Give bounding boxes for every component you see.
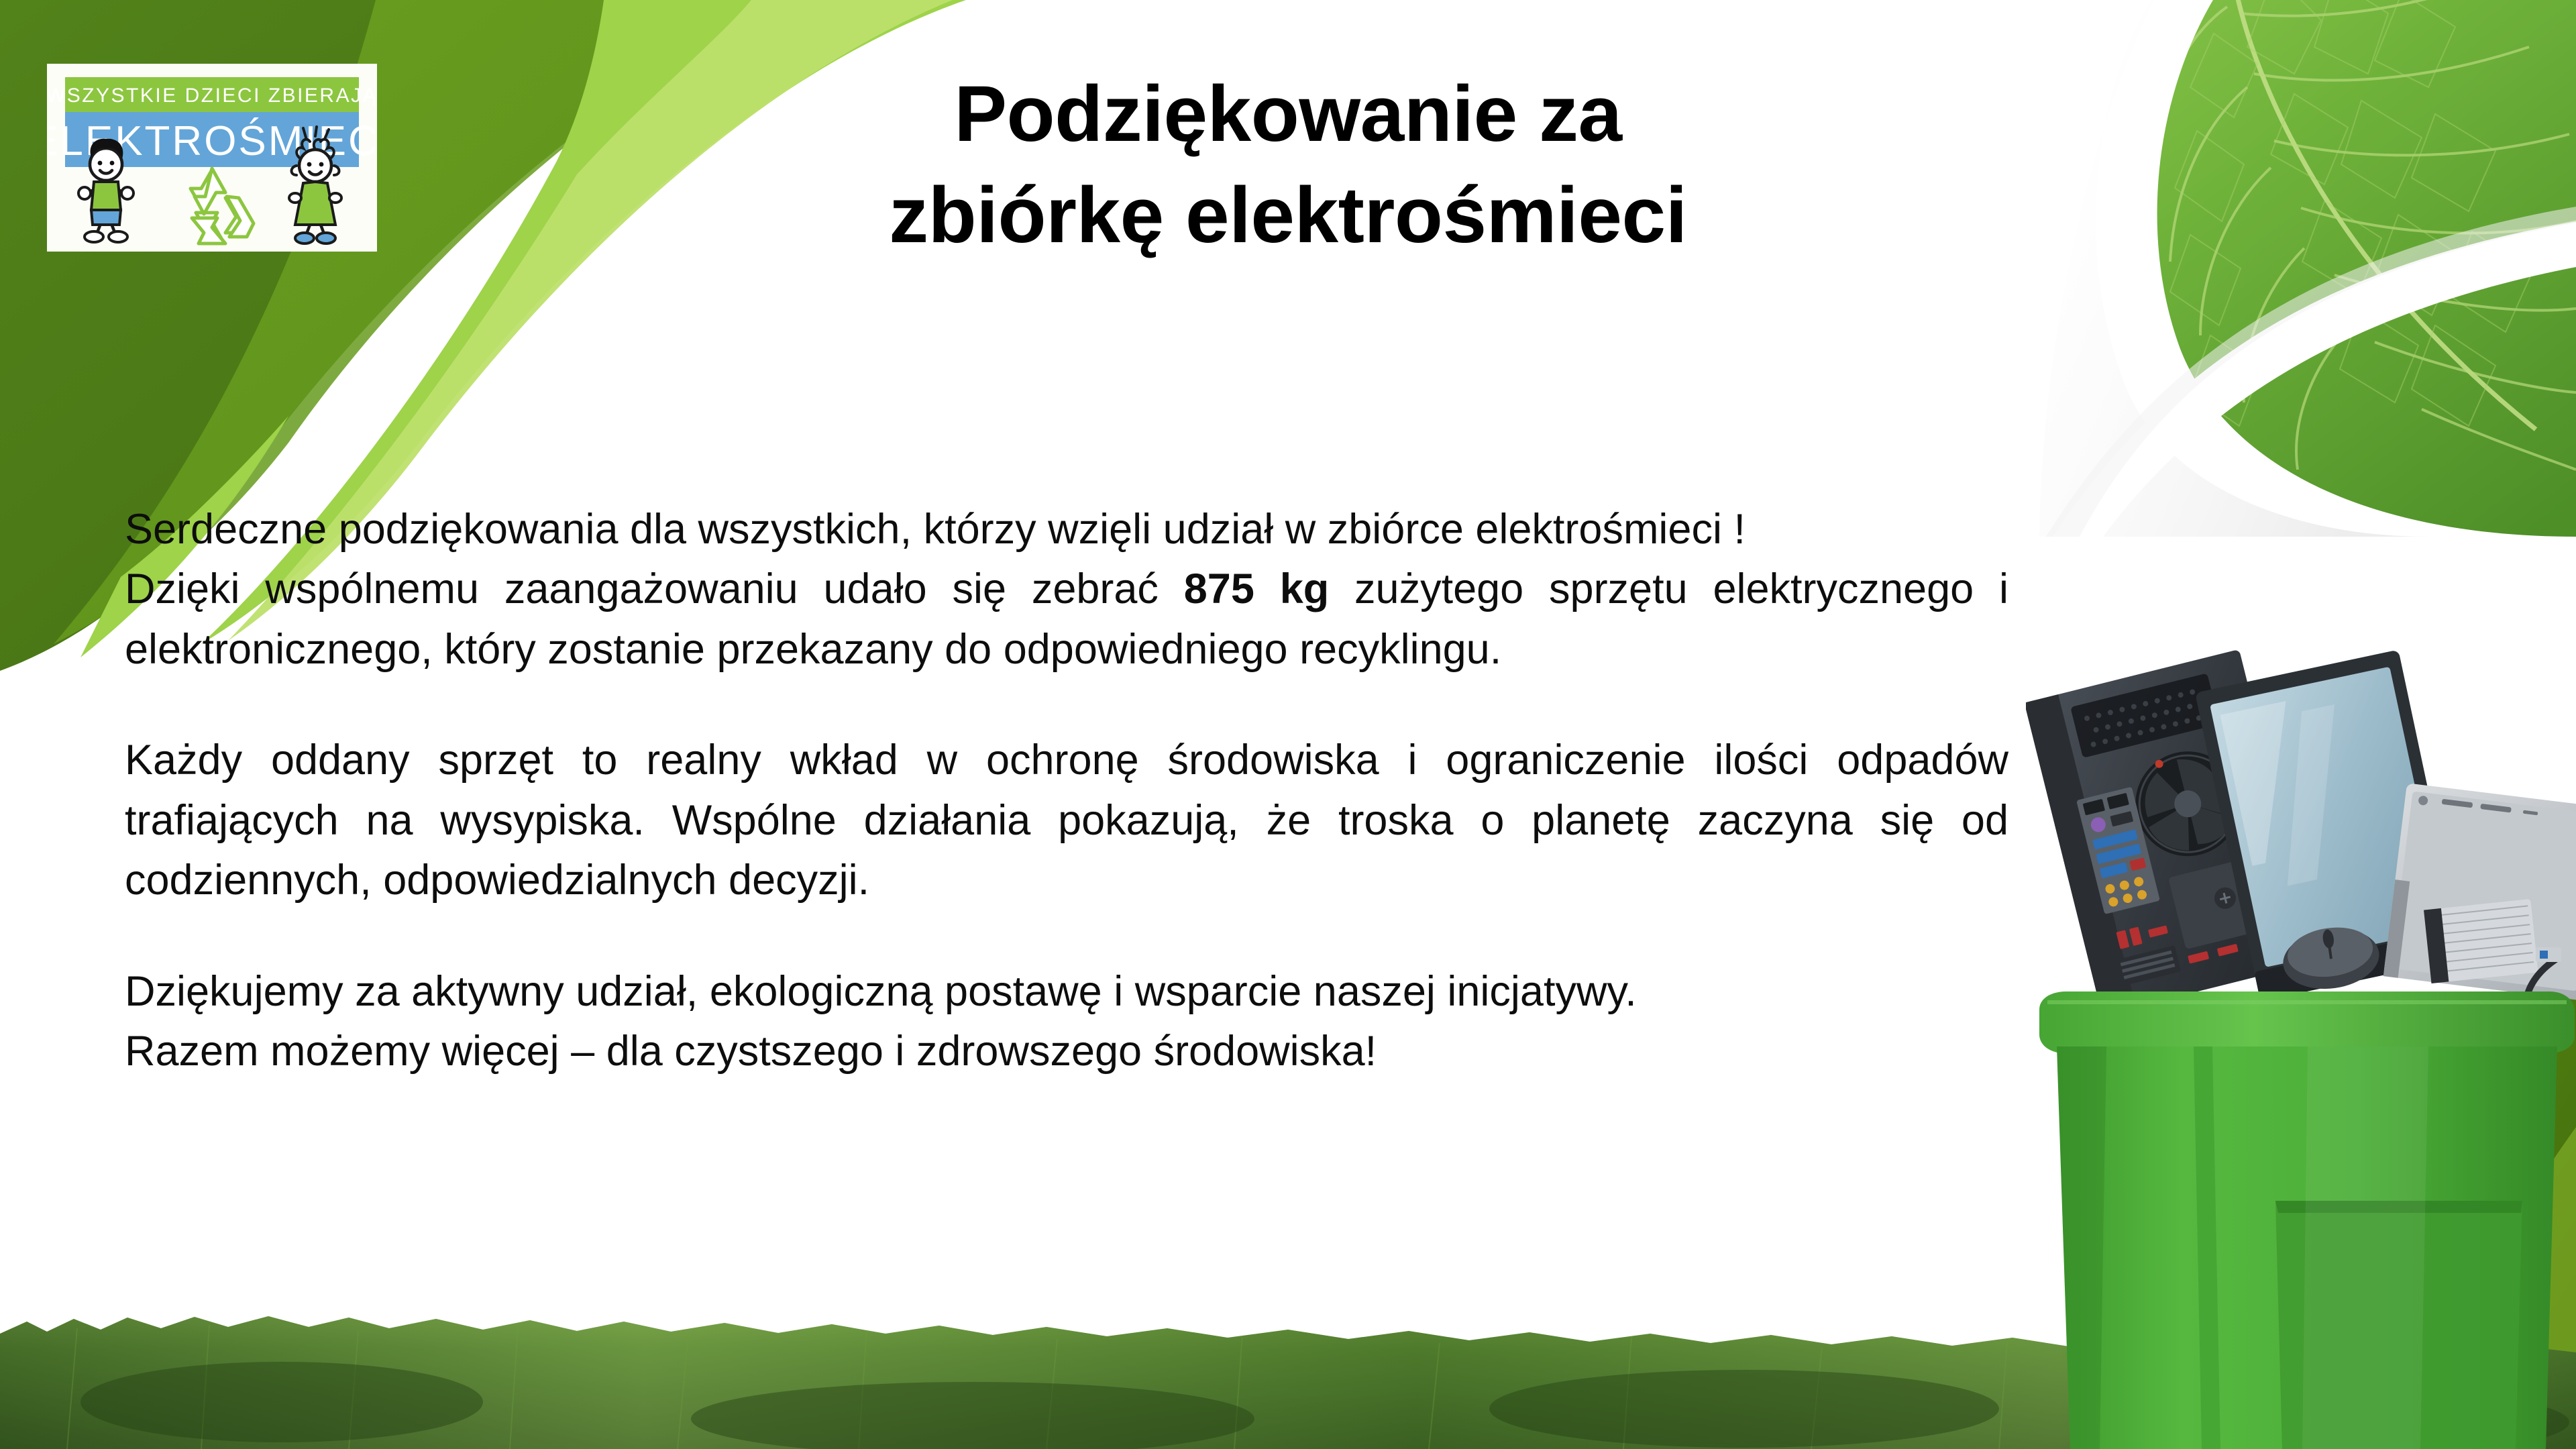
- paragraph-spacer-2: [125, 911, 2008, 962]
- elektrosmieci-logo: WSZYSTKIE DZIECI ZBIERAJĄ ELEKTROŚMIECI: [47, 64, 377, 252]
- paragraph-spacer-1: [125, 680, 2008, 731]
- weight-highlight: 875 kg: [1184, 566, 1329, 612]
- p1-text-before: Dzięki wspólnemu zaangażowaniu udało się…: [125, 566, 1184, 612]
- paragraph-1-line-1: Serdeczne podziękowania dla wszystkich, …: [125, 500, 2008, 559]
- title-line-2: zbiórkę elektrośmieci: [510, 165, 2066, 266]
- title-line-1: Podziękowanie za: [510, 64, 2066, 165]
- body-text-block: Serdeczne podziękowania dla wszystkich, …: [125, 500, 2008, 1082]
- ewaste-bin-image: [2026, 644, 2576, 1449]
- svg-text:WSZYSTKIE DZIECI ZBIERAJĄ: WSZYSTKIE DZIECI ZBIERAJĄ: [47, 85, 377, 107]
- paragraph-3-line-2: Razem możemy więcej – dla czystszego i z…: [125, 1022, 2008, 1081]
- paragraph-1-rest: Dzięki wspólnemu zaangażowaniu udało się…: [125, 559, 2008, 680]
- page-title: Podziękowanie za zbiórkę elektrośmieci: [510, 64, 2066, 266]
- paragraph-3-line-1: Dziękujemy za aktywny udział, ekologiczn…: [125, 962, 2008, 1022]
- paragraph-2: Każdy oddany sprzęt to realny wkład w oc…: [125, 731, 2008, 910]
- presentation-slide: WSZYSTKIE DZIECI ZBIERAJĄ ELEKTROŚMIECI: [0, 0, 2576, 1449]
